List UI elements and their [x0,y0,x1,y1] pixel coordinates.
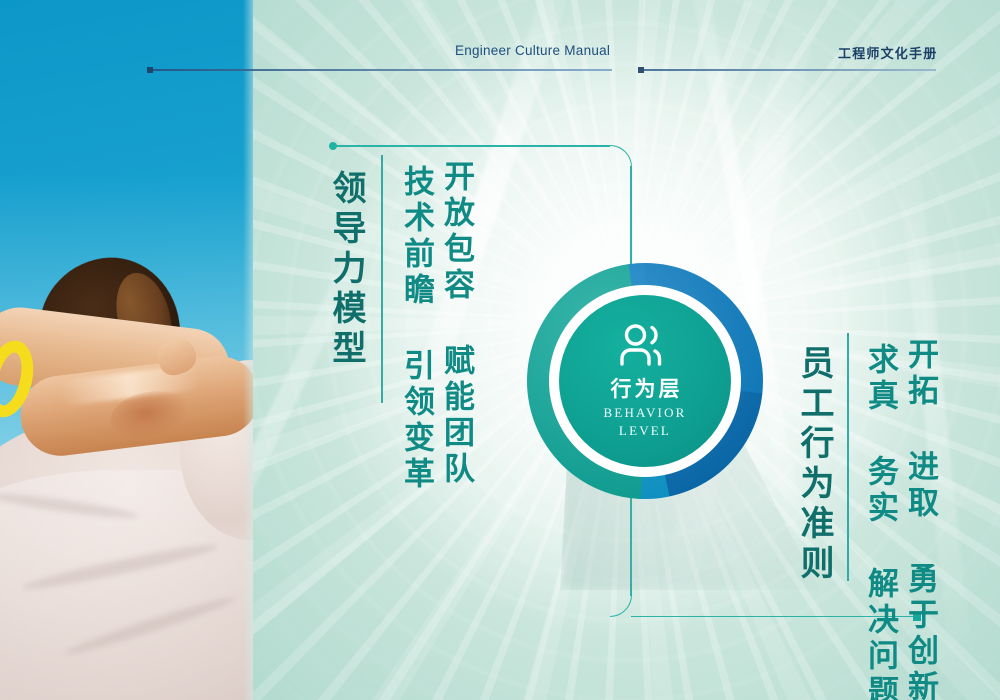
frame-top-line [332,145,610,147]
left-group-item-1: 技术前瞻 引领变革 [394,165,439,493]
behavior-level-badge: 行为层 BEHAVIOR LEVEL [527,263,763,499]
left-group-title: 领导力模型 [322,170,371,370]
badge-label-cn: 行为层 [608,378,683,401]
right-group-title: 员工行为准则 [790,345,839,585]
header-rule-left [148,69,612,71]
right-group-divider [847,333,849,581]
hero-photo [0,0,253,700]
left-group-divider [381,155,383,403]
header-rule-right [640,69,936,71]
badge-label-en: BEHAVIOR LEVEL [603,404,686,439]
left-group-item-2: 开放包容 赋能团队 [434,160,479,488]
poster-page: Engineer Culture Manual 工程师文化手册 领导力模型 技术… [0,0,1000,700]
right-group-item-2: 开拓 进取 勇于创新 [898,338,943,700]
badge-label-en-line1: BEHAVIOR [603,404,686,422]
people-icon [614,323,676,372]
right-group-item-1: 求真 务实 解决问题 [858,343,903,700]
header-title-en: Engineer Culture Manual [455,43,610,58]
photo-edge-fade [243,0,253,700]
badge-label-en-line2: LEVEL [603,422,686,440]
header-title-cn: 工程师文化手册 [838,43,937,62]
badge-inner-disc: 行为层 BEHAVIOR LEVEL [559,295,731,467]
